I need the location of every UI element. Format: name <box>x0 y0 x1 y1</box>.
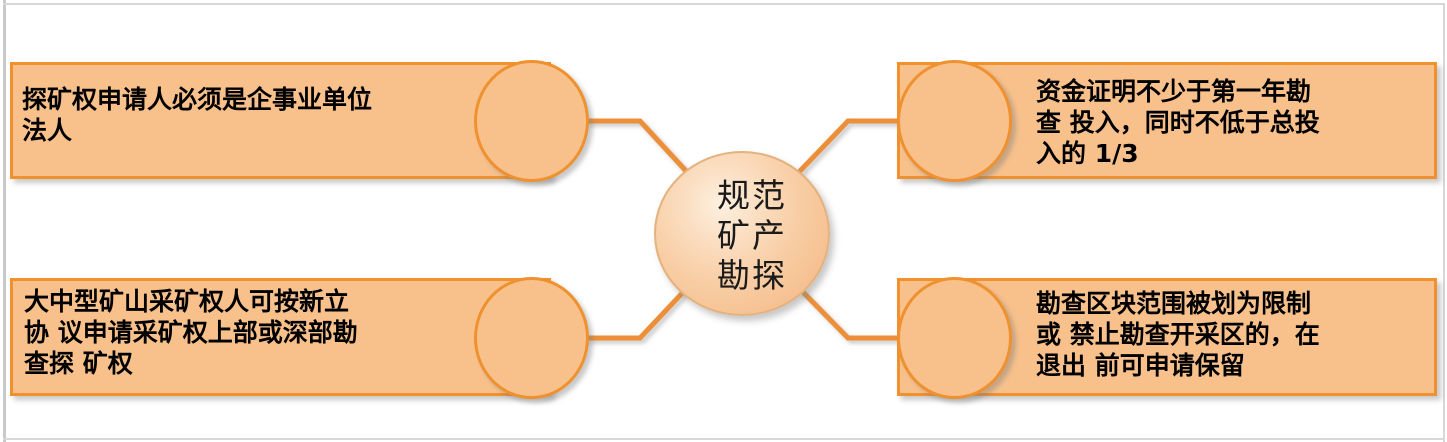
node-label-bottom-left: 大中型矿山采矿权人可按新立 协 议申请采矿权上部或深部勘 查探 矿权 <box>24 286 464 379</box>
page-frame-right <box>1443 3 1445 442</box>
page-frame-left <box>3 0 6 442</box>
node-label-top-right: 资金证明不少于第一年勘 查 投入，同时不低于总投 入的 1/3 <box>1036 76 1428 169</box>
hub-label: 规范 矿产 勘探 <box>656 153 832 318</box>
leaf-circle-bottom-left[interactable] <box>474 277 589 399</box>
leaf-circle-top-left[interactable] <box>474 60 589 182</box>
node-label-bottom-right: 勘查区块范围被划为限制 或 禁止勘查开采区的，在 退出 前可申请保留 <box>1036 288 1428 381</box>
diagram-canvas: 探矿权申请人必须是企事业单位 法人 资金证明不少于第一年勘 查 投入，同时不低于… <box>0 0 1447 442</box>
page-frame-bottom <box>3 438 1444 440</box>
leaf-circle-bottom-right[interactable] <box>897 277 1012 399</box>
leaf-circle-top-right[interactable] <box>897 60 1012 182</box>
hub-circle[interactable]: 规范 矿产 勘探 <box>654 151 830 316</box>
node-label-top-left: 探矿权申请人必须是企事业单位 法人 <box>22 84 462 146</box>
page-frame-top <box>3 3 1444 5</box>
